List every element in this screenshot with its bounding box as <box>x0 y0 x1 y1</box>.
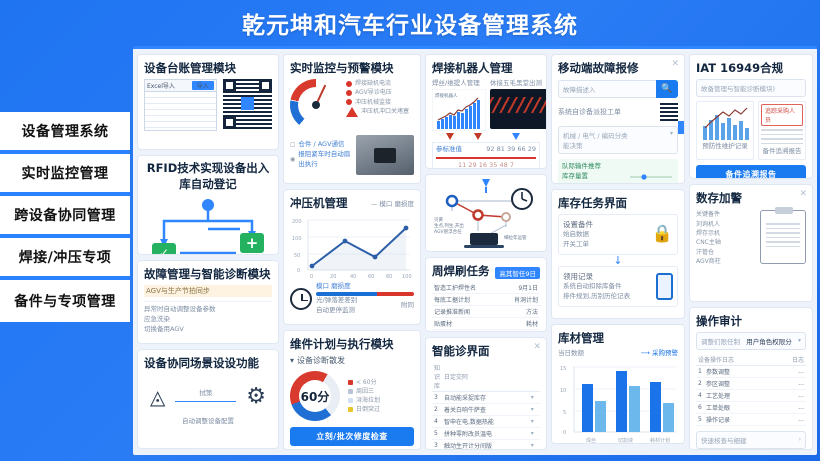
inventory-box1-line: 始启数据 <box>563 230 593 240</box>
press-bar-left2: 自动更停监测 <box>316 306 357 316</box>
audit-filter-left[interactable]: 调整们限任制 <box>701 336 740 346</box>
monitor-tag: ☐仓件 / AGV通信 <box>290 140 352 150</box>
column-header: 设备操作日志 <box>696 354 772 366</box>
status-badge: 高其智任9日 <box>495 267 540 279</box>
trace-personnel-badge[interactable]: 追踪采购人员 <box>761 104 803 126</box>
cube-icon: ◬ <box>150 385 165 409</box>
svg-text:10: 10 <box>560 388 566 394</box>
svg-text:20: 20 <box>330 274 336 280</box>
svg-text:100: 100 <box>292 236 302 242</box>
audit-footer-label: 快速核查与细建 <box>701 435 747 445</box>
svg-text:贝黄: 贝黄 <box>434 216 443 223</box>
card-weekly-weld-tasks[interactable]: 周焊刷任务 高其智任9日 智造工护焊性名9月1日 每底工据计划肖洞计划 记录推准… <box>425 257 547 332</box>
svg-text:耗材计划: 耗材计划 <box>650 437 670 444</box>
inventory-box1-line: 开关工单 <box>563 240 593 250</box>
monitor-gauge <box>290 79 342 131</box>
column-header: 日定交阿 <box>442 362 540 392</box>
alert-item[interactable]: 焊接缺机电流 <box>346 79 414 88</box>
warning-triangle-icon <box>346 107 358 117</box>
monitor-tag: ◉报阻紧车时自动扇出执行 <box>290 150 352 170</box>
card-title: 周焊刷任务 <box>432 263 490 279</box>
box-icon: ☐ <box>290 141 295 150</box>
card-operation-audit[interactable]: 操作审计 调整们限任制 用户角色权限分 ▾ 设备操作日志日志 1参数调整... … <box>689 307 813 450</box>
alert-label: 焊接缺机电流 <box>355 79 391 88</box>
svg-text:40: 40 <box>350 274 356 280</box>
alert-label: 冲压机冲口关堵塞 <box>361 107 409 116</box>
chevron-down-icon[interactable]: ▾ <box>798 337 801 344</box>
table-row[interactable]: 3自动能采捉库存▾ <box>432 392 540 404</box>
svg-text:0: 0 <box>310 274 313 280</box>
card-title: 设备台账管理模块 <box>144 60 272 76</box>
table-row[interactable]: 1参数调整... <box>696 365 806 377</box>
diagnosis-table: 知识库日定交阿 3自动能采捉库存▾ 2着关白响牛萨查▾ 4智申在电,数据热能▾ … <box>432 362 540 450</box>
alert-dot-icon <box>346 81 352 87</box>
alert-dot-icon <box>346 99 352 105</box>
alert-label: 冲压机械监接 <box>355 98 391 107</box>
card-title: 数存加警 <box>696 190 806 206</box>
card-title: 库存任务界面 <box>558 195 678 211</box>
column-1: 设备台账管理模块 Excel导入 导入 <box>137 54 279 450</box>
close-icon[interactable]: ✕ <box>799 189 807 199</box>
iatf-module-field[interactable]: 故备管理与智能诊断模块) <box>696 79 806 97</box>
iatf-chart-caption: 预防性维护记录 <box>699 142 751 152</box>
table-row[interactable]: 智造工护焊性名9月1日 <box>432 282 540 294</box>
down-arrows <box>432 131 542 141</box>
legend-item: 周因三 <box>348 387 414 396</box>
card-rfid[interactable]: RFID技术实现设备出入库自动登记 + ✓ <box>137 155 279 255</box>
column-2: 实时监控与预警模块 焊接缺机电流 AGV导诊电压 冲压机械监接 冲压机冲口关堵塞… <box>283 54 421 450</box>
alarm-item[interactable]: 关键备件 <box>696 210 756 219</box>
collab-caption: 自动调整设备配置 <box>144 417 272 427</box>
weld-monitor-screen <box>490 89 547 129</box>
audit-filter-right[interactable]: 用户角色权限分 <box>746 336 792 346</box>
card-iatf-compliance[interactable]: IAT 16949合规 故备管理与智能诊断模块) 预防性维护记录 <box>689 54 813 179</box>
card-title: 操作审计 <box>696 313 806 329</box>
alarm-item[interactable]: AGV商柱 <box>696 257 756 266</box>
card-equipment-ledger[interactable]: 设备台账管理模块 Excel导入 导入 <box>137 54 279 150</box>
mobile-phone-icon <box>656 273 673 300</box>
table-row[interactable]: 记录推准新闻方法 <box>432 306 540 318</box>
svg-text:焊接机器人: 焊接机器人 <box>435 92 458 99</box>
card-smart-diagnosis[interactable]: 智能诊界面 ✕ 知识库日定交阿 3自动能采捉库存▾ 2着关白响牛萨查▾ 4智申在… <box>425 337 547 450</box>
clipboard-icon <box>760 210 806 264</box>
svg-text:0: 0 <box>297 268 300 274</box>
chevron-down-icon[interactable]: ▾ <box>529 404 540 416</box>
recommend-label: 队际输件推荐 <box>562 162 674 172</box>
welding-bar-chart: 焊接机器人 <box>432 89 486 131</box>
down-arrow-icon: ↓ <box>558 255 678 266</box>
svg-text:15: 15 <box>560 366 566 372</box>
chart-legend-left: 当日数额 <box>558 349 584 359</box>
table-row[interactable]: 5拼种零附改员温电▾ <box>432 428 540 440</box>
svg-text:生点,列生,开出: 生点,列生,开出 <box>434 222 464 229</box>
card-stock-alarm[interactable]: 数存加警 ✕ 关键备件 刘询机人 焊存示机 CNC主轴 汗管仓 AGV商柱 <box>689 184 813 301</box>
table-row[interactable]: 5操作记录... <box>696 413 806 425</box>
sidebar-item-label: 设备管理系统 <box>22 121 109 141</box>
column-5: IAT 16949合规 故备管理与智能诊断模块) 预防性维护记录 <box>689 54 813 450</box>
svg-text:✓: ✓ <box>159 246 169 255</box>
alert-label: AGV导诊电压 <box>355 88 392 97</box>
column-4: 移动端故障报修 ✕ 故障描述入 🔍 系统自诊备派投工单 机械 / 电气 / 编码… <box>551 54 685 450</box>
gear-icon: ⚙ <box>246 384 266 409</box>
chevron-down-icon: ▾ <box>290 355 294 367</box>
svg-text:0: 0 <box>563 430 566 436</box>
score-value: 60分 <box>301 388 330 405</box>
sidebar-item-label: 焊接/冲压专项 <box>19 247 112 267</box>
inventory-box2-title: 领用记录 <box>563 271 630 282</box>
weld-param-values2: 11 29 16 35 48 7 <box>436 161 536 169</box>
sidebar: 设备管理系统 实时监控管理 跨设备协同管理 焊接/冲压专项 备件与专项管理 <box>0 112 130 322</box>
weld-task-table: 智造工护焊性名9月1日 每底工据计划肖洞计划 记录推准新闻方法 贴蛋材耗材 <box>432 282 540 330</box>
stock-slider[interactable] <box>628 173 674 181</box>
card-maintenance-plan[interactable]: 维件计划与执行模块 ▾ 设备诊断散发 60分 < 60分 周因三 浔海拉划 日倒… <box>283 330 421 450</box>
card-title: 设备协同场景设设功能 <box>144 355 272 371</box>
table-row[interactable]: 4工艺处理... <box>696 389 806 401</box>
weld-param-values: 92 81 39 66 29 <box>486 145 536 155</box>
rfid-flow-diagram: + ✓ <box>144 195 272 255</box>
fault-search[interactable]: 故障描述入 🔍 <box>558 80 678 98</box>
alarm-item[interactable]: 焊存示机 <box>696 229 756 238</box>
sidebar-item-label: 跨设备协同管理 <box>14 205 116 225</box>
inventory-box2-line: 系统自动扣除库备件 <box>563 282 630 292</box>
chevron-down-icon[interactable]: ▾ <box>529 428 540 440</box>
svg-text:100: 100 <box>402 274 412 280</box>
alarm-item[interactable]: CNC主轴 <box>696 238 756 247</box>
svg-text:50: 50 <box>294 253 300 259</box>
qr-code-icon <box>223 79 272 129</box>
card-title: 焊接机器人管理 <box>432 60 540 76</box>
card-fault-diagnosis[interactable]: 故障管理与智能诊断模块 AGV与生产节拍同步 异常时自动调整设备参数 应急洗染 … <box>137 260 279 344</box>
search-input[interactable]: 故障描述入 <box>558 80 656 98</box>
sidebar-item-label: 备件与专项管理 <box>14 291 116 311</box>
svg-text:+: + <box>246 234 259 252</box>
card-mobile-fault-report[interactable]: 移动端故障报修 ✕ 故障描述入 🔍 系统自诊备派投工单 机械 / 电气 / 编码… <box>551 54 685 184</box>
column-header: 日志 <box>772 354 806 366</box>
card-title: 维件计划与执行模块 <box>290 336 414 352</box>
stock-label: 库存量置 <box>562 172 588 182</box>
inventory-box2-line: 排件规划,历别历伦记表 <box>563 292 630 302</box>
press-bar-label: 模口 磨损度 <box>316 282 414 292</box>
sidebar-item-spare-parts[interactable]: 备件与专项管理 <box>0 280 130 322</box>
svg-text:切割液: 切割液 <box>618 437 633 444</box>
chevron-down-icon[interactable]: ▾ <box>529 440 540 450</box>
alarm-item[interactable]: 刘询机人 <box>696 220 756 229</box>
excel-import-table[interactable]: Excel导入 导入 <box>144 79 217 131</box>
close-icon[interactable]: ✕ <box>533 342 541 352</box>
gear-small-icon: ◉ <box>290 155 295 164</box>
table-row[interactable]: 2着关白响牛萨查▾ <box>432 404 540 416</box>
card-realtime-monitor[interactable]: 实时监控与预警模块 焊接缺机电流 AGV导诊电压 冲压机械监接 冲压机冲口关堵塞… <box>283 54 421 184</box>
classification-select-label: 机械 / 电气 / 编码分类 能决策 <box>563 130 628 150</box>
column-header: 知识库 <box>432 362 442 392</box>
excel-import-label: Excel导入 <box>147 81 175 90</box>
card-title: RFID技术实现设备出入库自动登记 <box>144 161 272 192</box>
table-row[interactable]: 6工单处眼... <box>696 401 806 413</box>
card-title: 故障管理与智能诊断模块 <box>144 266 272 282</box>
lock-icon: 🔒 <box>652 224 673 244</box>
card-title: 冲压机管理 <box>290 195 348 211</box>
card-welding-robot[interactable]: 焊接机器人管理 焊丝/维提人管理 焊接机器人 <box>425 54 547 169</box>
weld-param-label: 参标准值 <box>436 145 462 155</box>
chart-legend-right: ⟶ 采购预警 <box>641 349 678 359</box>
alert-dot-icon <box>346 90 352 96</box>
svg-text:80: 80 <box>386 274 392 280</box>
table-row[interactable]: 4智申在电,数据热能▾ <box>432 416 540 428</box>
page-title: 乾元坤和汽车行业设备管理系统 <box>0 6 820 40</box>
card-title: 移动端故障报修 <box>558 60 678 76</box>
weld-sub-left: 焊丝/维提人管理 <box>432 79 486 89</box>
card-press-machine[interactable]: 冲压机管理 — 模口 磨损度 200100 500 020 4060 80100 <box>283 189 421 325</box>
qr-code-icon <box>660 103 678 121</box>
fault-line: 切换备用AGV <box>144 325 272 335</box>
card-inventory-tasks[interactable]: 库存任务界面 设置备件 始启数据 开关工单 🔒 ↓ 领用记录 系统自动扣除库备件… <box>551 189 685 319</box>
close-icon[interactable]: ✕ <box>671 59 679 69</box>
legend-item: < 60分 <box>348 378 414 387</box>
card-collaboration-scene[interactable]: 设备协同场景设设功能 ◬ 拭策 ⚙ 自动调整设备配置 <box>137 349 279 449</box>
column-3: 焊接机器人管理 焊丝/维提人管理 焊接机器人 <box>425 54 547 450</box>
chevron-down-icon[interactable]: ▾ <box>670 130 673 137</box>
svg-text:60: 60 <box>368 274 374 280</box>
chevron-down-icon[interactable]: ▾ <box>529 416 540 428</box>
sidebar-item-label: 实时监控管理 <box>22 163 109 183</box>
weld-sub-right: 休接五毛黑堂出测 <box>490 79 547 89</box>
sidebar-item-realtime-monitoring[interactable]: 实时监控管理 <box>0 154 130 196</box>
svg-text:细拉年运管: 细拉年运管 <box>504 234 527 241</box>
inventory-box1-title: 设置备件 <box>563 219 593 230</box>
weld-param-panel: 参标准值 92 81 39 66 29 11 29 16 35 48 7 <box>432 142 540 169</box>
table-row[interactable]: 每底工据计划肖洞计划 <box>432 294 540 306</box>
press-bar-right: 附同 <box>401 301 414 311</box>
fault-line: 应急洗染 <box>144 315 272 325</box>
press-bar-left: 光/弹落差差别 <box>316 296 357 306</box>
card-title: 智能诊界面 <box>432 343 540 359</box>
score-ring: 60分 <box>290 371 340 421</box>
device-network-diagram: 贝黄 生点,列生,开出 AGV感浮合任 细拉年运管 <box>430 177 542 252</box>
iatf-right-caption: 备件追溯报告 <box>761 147 803 157</box>
alarm-item[interactable]: 汗管仓 <box>696 248 756 257</box>
card-stock-material[interactable]: 库材管理 当日数额 ⟶ 采购预警 1510 50 焊丝 切割液 <box>551 324 685 444</box>
table-row[interactable]: 2参区调整... <box>696 377 806 389</box>
chart-legend: — 模口 磨损度 <box>371 200 414 210</box>
sidebar-item-cross-device[interactable]: 跨设备协同管理 <box>0 196 130 238</box>
table-row[interactable]: 贴蛋材耗材 <box>432 318 540 330</box>
svg-text:200: 200 <box>292 219 302 225</box>
card-title: IAT 16949合规 <box>696 60 806 76</box>
dispatch-label: 系统自诊备派投工单 <box>558 107 621 118</box>
trace-report-button[interactable]: 备件追溯报告 <box>696 165 806 180</box>
alert-item[interactable]: AGV导诊电压 <box>346 88 414 97</box>
camera-photo <box>356 135 414 175</box>
card-title: 实时监控与预警模块 <box>290 60 414 76</box>
sidebar-item-equipment-management[interactable]: 设备管理系统 <box>0 112 130 154</box>
chevron-down-icon[interactable]: ▾ <box>529 392 540 404</box>
clock-icon <box>290 288 312 310</box>
audit-table: 设备操作日志日志 1参数调整... 2参区调整... 4工艺处理... 6工单处… <box>696 354 806 426</box>
card-network-diagram[interactable]: 贝黄 生点,列生,开出 AGV感浮合任 细拉年运管 <box>425 174 547 252</box>
svg-text:5: 5 <box>563 410 566 416</box>
svg-text:焊丝: 焊丝 <box>586 437 596 444</box>
legend-item: 日倒突过 <box>348 405 414 414</box>
card-title: 库材管理 <box>558 330 678 346</box>
dashboard-board: 设备台账管理模块 Excel导入 导入 <box>133 46 817 455</box>
collab-arrow-label: 拭策 <box>171 389 240 399</box>
legend-item: 浔海拉划 <box>348 396 414 405</box>
chevron-right-icon[interactable]: › <box>799 436 801 443</box>
fault-highlight: AGV与生产节拍同步 <box>144 285 272 297</box>
stock-bar-chart: 1510 50 焊丝 切割液 耗材计划 <box>558 360 680 444</box>
alert-warning[interactable]: 冲压机冲口关堵塞 <box>346 107 414 117</box>
sidebar-item-welding-stamping[interactable]: 焊接/冲压专项 <box>0 238 130 280</box>
maintenance-check-button[interactable]: 立刻/批次修度检查 <box>290 427 414 446</box>
excel-import-button[interactable]: 导入 <box>192 81 214 90</box>
table-row <box>145 122 216 128</box>
alert-item[interactable]: 冲压机械监接 <box>346 98 414 107</box>
maint-sub: ▾ 设备诊断散发 <box>290 355 414 367</box>
svg-text:AGV感浮合任: AGV感浮合任 <box>434 228 462 235</box>
preventive-maintenance-chart <box>699 104 751 142</box>
table-row[interactable]: 3触动生开计分间版▾ <box>432 440 540 450</box>
press-line-chart: 200100 500 020 4060 80100 <box>290 214 414 280</box>
fault-line: 异常时自动调整设备参数 <box>144 305 272 315</box>
search-icon[interactable]: 🔍 <box>656 80 678 98</box>
